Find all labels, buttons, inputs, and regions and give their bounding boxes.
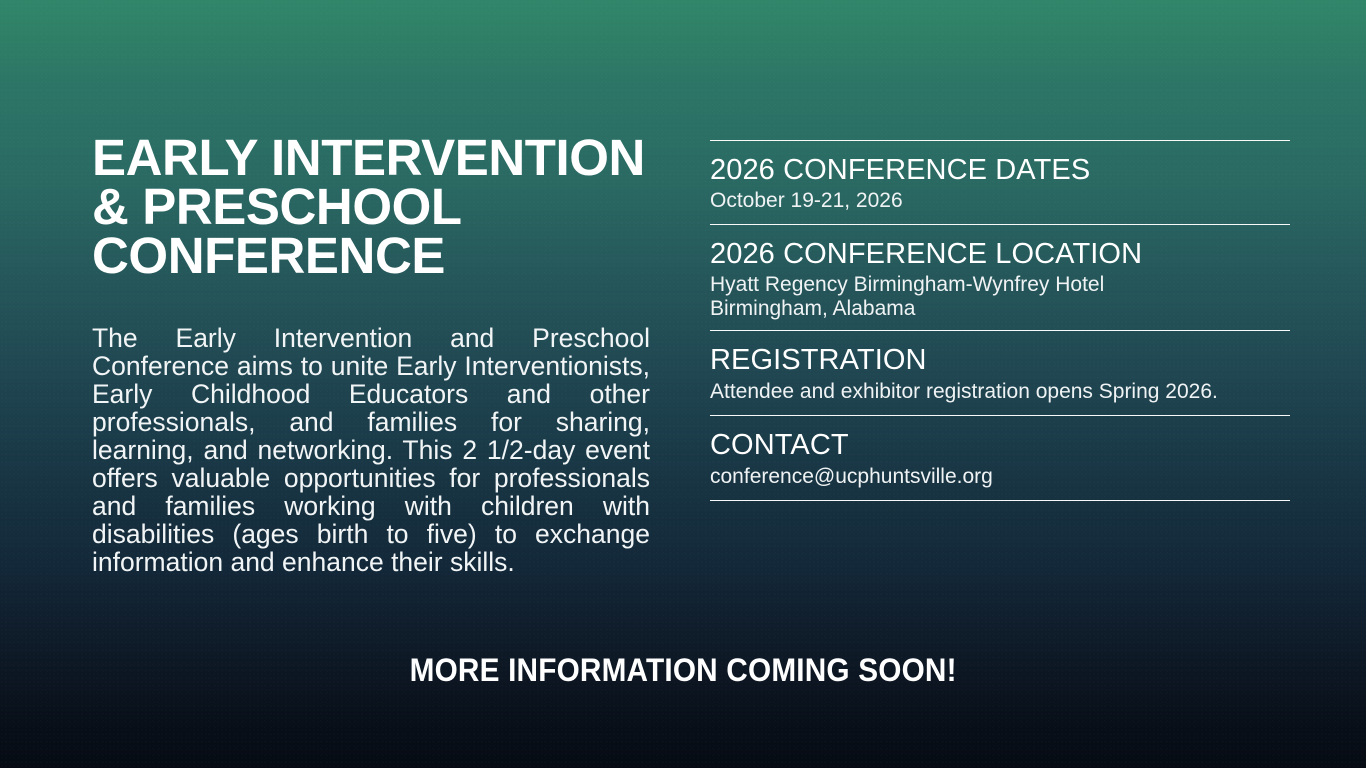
divider-after-location	[710, 330, 1290, 331]
divider-bottom	[710, 500, 1290, 501]
conference-dates-value: October 19-21, 2026	[710, 189, 1290, 213]
conference-dates-heading: 2026 CONFERENCE DATES	[710, 154, 1290, 187]
contact-heading: CONTACT	[710, 429, 1290, 462]
divider-top	[710, 140, 1290, 141]
footer-announcement-text: MORE INFORMATION COMING SOON!	[409, 652, 956, 689]
info-block-conference-dates: 2026 CONFERENCE DATES October 19-21, 202…	[710, 141, 1290, 224]
info-block-registration: REGISTRATION Attendee and exhibitor regi…	[710, 331, 1290, 415]
conference-location-heading: 2026 CONFERENCE LOCATION	[710, 238, 1290, 271]
registration-heading: REGISTRATION	[710, 344, 1290, 377]
details-column: 2026 CONFERENCE DATES October 19-21, 202…	[710, 140, 1290, 501]
contact-email-value[interactable]: conference@ucphuntsville.org	[710, 465, 1290, 489]
conference-location-value: Hyatt Regency Birmingham-Wynfrey Hotel B…	[710, 273, 1290, 321]
registration-value: Attendee and exhibitor registration open…	[710, 380, 1290, 404]
footer-banner: MORE INFORMATION COMING SOON!	[0, 652, 1366, 689]
divider-after-dates	[710, 224, 1290, 225]
info-block-contact: CONTACT conference@ucphuntsville.org	[710, 416, 1290, 500]
conference-description: The Early Intervention and Preschool Con…	[92, 324, 650, 576]
conference-slide: EARLY INTERVENTION & PRESCHOOL CONFERENC…	[0, 0, 1366, 768]
page-title: EARLY INTERVENTION & PRESCHOOL CONFERENC…	[92, 133, 652, 280]
info-block-conference-location: 2026 CONFERENCE LOCATION Hyatt Regency B…	[710, 225, 1290, 330]
left-content-column: EARLY INTERVENTION & PRESCHOOL CONFERENC…	[92, 133, 652, 576]
divider-after-registration	[710, 415, 1290, 416]
